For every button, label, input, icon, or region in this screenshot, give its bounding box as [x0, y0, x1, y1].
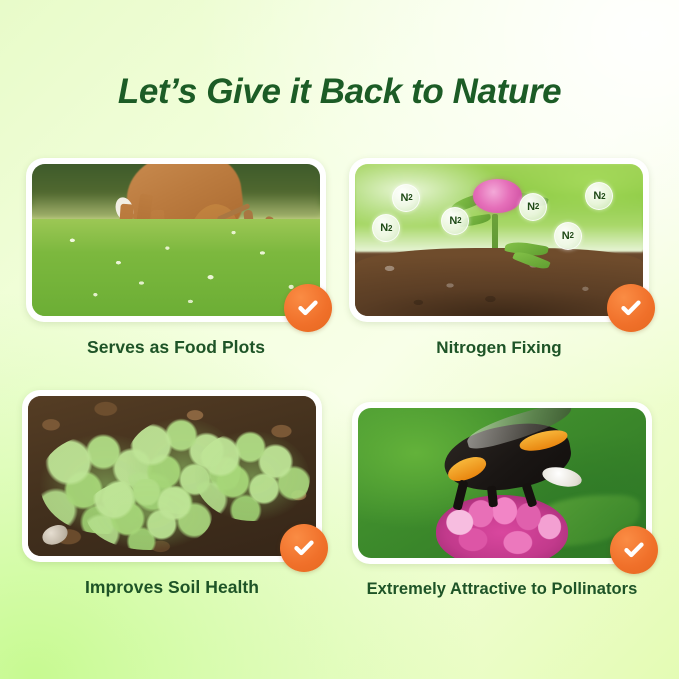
feature-caption: Extremely Attractive to Pollinators	[352, 579, 652, 600]
nitrogen-molecule-badge: N2	[392, 184, 420, 212]
check-icon	[618, 295, 644, 321]
clover-field	[32, 219, 320, 316]
bumblebee-photo	[358, 408, 646, 558]
infographic-panel: Let’s Give it Back to Nature	[0, 0, 679, 679]
molecule-symbol: N	[400, 192, 408, 204]
nitrogen-photo: N2 N2 N2 N2 N2 N2	[355, 164, 643, 316]
check-badge	[284, 284, 332, 332]
soil-bed	[355, 248, 643, 316]
feature-caption: Nitrogen Fixing	[349, 337, 649, 358]
feature-card-food-plots[interactable]: Serves as Food Plots	[26, 158, 326, 358]
seedlings-photo	[28, 396, 316, 556]
seedling-cluster	[195, 431, 310, 521]
molecule-subscript: 2	[408, 193, 412, 202]
bee-leg	[487, 486, 498, 508]
molecule-subscript: 2	[601, 192, 605, 201]
photo-frame: N2 N2 N2 N2 N2 N2	[349, 158, 649, 322]
nitrogen-molecule-badge: N2	[441, 207, 469, 235]
deer-photo	[32, 164, 320, 316]
photo-frame	[352, 402, 652, 564]
feature-caption: Improves Soil Health	[22, 577, 322, 598]
molecule-symbol: N	[380, 222, 388, 234]
molecule-subscript: 2	[569, 231, 573, 240]
check-icon	[621, 537, 647, 563]
molecule-subscript: 2	[535, 202, 539, 211]
molecule-symbol: N	[527, 201, 535, 213]
page-title: Let’s Give it Back to Nature	[0, 72, 679, 112]
feature-card-nitrogen-fixing[interactable]: N2 N2 N2 N2 N2 N2	[349, 158, 649, 358]
nitrogen-molecule-badge: N2	[519, 193, 547, 221]
clover-bloom	[473, 179, 522, 212]
check-icon	[291, 535, 317, 561]
molecule-subscript: 2	[388, 224, 392, 233]
check-badge	[607, 284, 655, 332]
bee-tail	[541, 464, 584, 490]
feature-caption: Serves as Food Plots	[26, 337, 326, 358]
feature-grid: Serves as Food Plots N2	[0, 152, 679, 642]
photo-frame	[26, 158, 326, 322]
check-icon	[295, 295, 321, 321]
molecule-subscript: 2	[457, 216, 461, 225]
molecule-symbol: N	[562, 230, 570, 242]
seedling-cluster	[86, 479, 213, 549]
check-badge	[610, 526, 658, 574]
molecule-symbol: N	[449, 215, 457, 227]
feature-card-soil-health[interactable]: Improves Soil Health	[22, 390, 322, 598]
feature-card-pollinators[interactable]: Extremely Attractive to Pollinators	[352, 402, 652, 600]
photo-frame	[22, 390, 322, 562]
nitrogen-molecule-badge: N2	[554, 222, 582, 250]
molecule-symbol: N	[593, 190, 601, 202]
check-badge	[280, 524, 328, 572]
